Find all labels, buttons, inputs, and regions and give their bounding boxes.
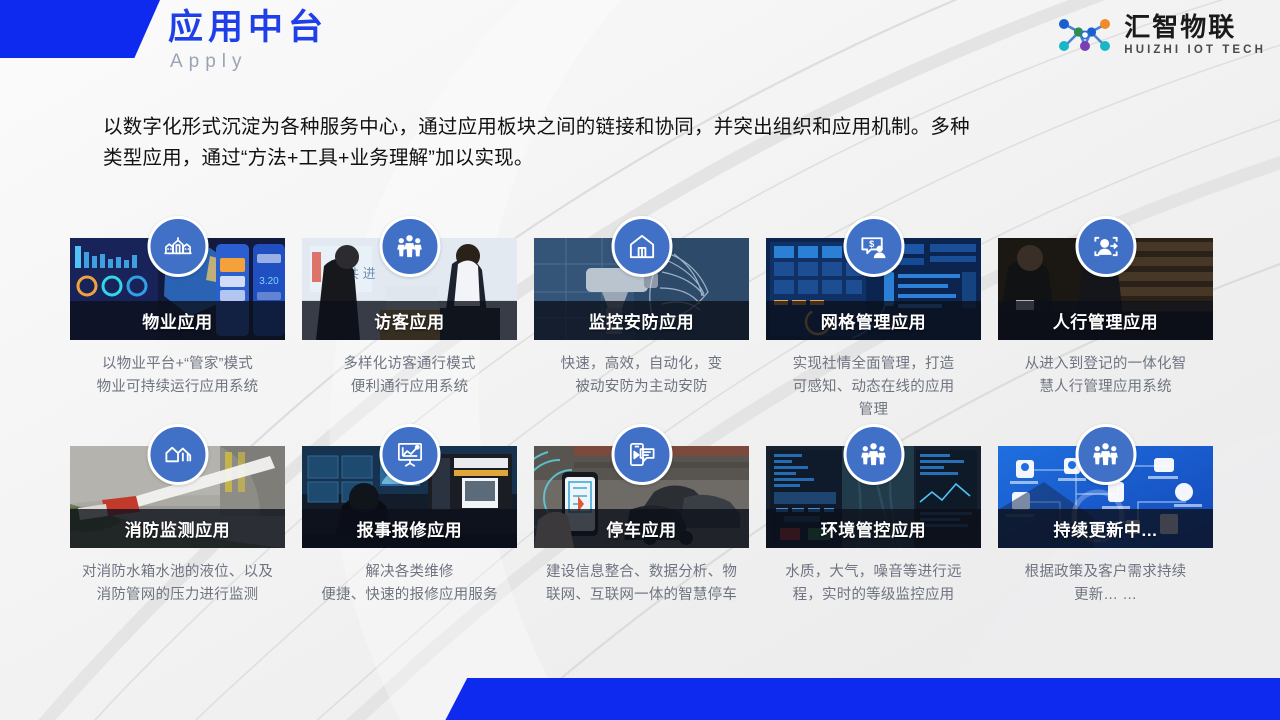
card-caption: 多样化访客通行模式便利通行应用系统 (302, 353, 517, 399)
footer-accent-bar (0, 678, 1280, 720)
card-caption-line: 程，实时的等级监控应用 (766, 584, 981, 607)
application-card-grid: 3.20物业应用以物业平台+“管家”模式物业可持续运行应用系统共 进访客应用多样… (70, 238, 1212, 607)
card-caption-line: 实现社情全面管理，打造 (766, 353, 981, 376)
application-card[interactable]: 消防监测应用对消防水箱水池的液位、以及消防管网的压力进行监测 (70, 446, 285, 607)
page-title: 应用中台 (168, 6, 328, 50)
title-block: 应用中台 Apply (168, 6, 328, 73)
card-title-bar: 环境管控应用 (766, 509, 981, 548)
card-caption-line: 更新… … (998, 584, 1213, 607)
card-caption-line: 联网、互联网一体的智慧停车 (534, 584, 749, 607)
card-caption-line: 以物业平台+“管家”模式 (70, 353, 285, 376)
face-scan-icon (1090, 231, 1121, 262)
card-caption: 以物业平台+“管家”模式物业可持续运行应用系统 (70, 353, 285, 399)
card-row-1: 3.20物业应用以物业平台+“管家”模式物业可持续运行应用系统共 进访客应用多样… (70, 238, 1212, 422)
phone-message-icon (626, 439, 657, 470)
card-caption-line: 根据政策及客户需求持续 (998, 561, 1213, 584)
application-card[interactable]: 持续更新中...根据政策及客户需求持续更新… … (998, 446, 1213, 607)
card-image-wrapper[interactable]: 消防监测应用 (70, 446, 285, 548)
card-image-wrapper[interactable]: 监控安防应用 (534, 238, 749, 340)
header-corner-accent (0, 0, 160, 58)
card-caption-line: 多样化访客通行模式 (302, 353, 517, 376)
card-title: 持续更新中... (1054, 516, 1158, 541)
logo-name-cn: 汇智物联 (1124, 13, 1266, 42)
card-badge-icon (1075, 424, 1136, 485)
intro-paragraph: 以数字化形式沉淀为各种服务中心，通过应用板块之间的链接和协同，并突出组织和应用机… (103, 112, 1175, 174)
card-title: 消防监测应用 (125, 516, 231, 541)
card-title-bar: 持续更新中... (998, 509, 1213, 548)
application-card[interactable]: 环境管控应用水质，大气，噪音等进行远程，实时的等级监控应用 (766, 446, 981, 607)
page-subtitle: Apply (170, 51, 328, 73)
card-title-bar: 监控安防应用 (534, 301, 749, 340)
application-card[interactable]: 停车应用建设信息整合、数据分析、物联网、互联网一体的智慧停车 (534, 446, 749, 607)
card-image-wrapper[interactable]: 共 进访客应用 (302, 238, 517, 340)
card-caption-line: 便利通行应用系统 (302, 376, 517, 399)
intro-line-2: 类型应用，通过“方法+工具+业务理解”加以实现。 (103, 143, 1175, 174)
people-group-icon (858, 439, 889, 470)
card-person-icon: $ (858, 231, 889, 262)
card-caption-line: 物业可持续运行应用系统 (70, 376, 285, 399)
card-title: 停车应用 (606, 516, 676, 541)
application-card[interactable]: 监控安防应用快速，高效，自动化，变被动安防为主动安防 (534, 238, 749, 422)
card-title: 人行管理应用 (1053, 308, 1159, 333)
card-caption-line: 管理 (766, 399, 981, 422)
application-card[interactable]: $网格管理应用实现社情全面管理，打造可感知、动态在线的应用管理 (766, 238, 981, 422)
card-caption: 对消防水箱水池的液位、以及消防管网的压力进行监测 (70, 561, 285, 607)
svg-text:$: $ (869, 239, 874, 249)
card-title: 环境管控应用 (821, 516, 927, 541)
card-badge-icon (379, 216, 440, 277)
card-title: 物业应用 (142, 308, 212, 333)
chart-board-icon (394, 439, 425, 470)
application-card[interactable]: 人行管理应用从进入到登记的一体化智慧人行管理应用系统 (998, 238, 1213, 422)
card-title-bar: 访客应用 (302, 301, 517, 340)
page-header: 应用中台 Apply 汇智物联 HUIZHI IOT TECH (0, 0, 1280, 90)
card-title: 网格管理应用 (821, 308, 927, 333)
card-badge-icon (611, 424, 672, 485)
card-caption-line: 建设信息整合、数据分析、物 (534, 561, 749, 584)
card-caption: 从进入到登记的一体化智慧人行管理应用系统 (998, 353, 1213, 399)
card-title-bar: 消防监测应用 (70, 509, 285, 548)
card-caption: 快速，高效，自动化，变被动安防为主动安防 (534, 353, 749, 399)
card-caption: 建设信息整合、数据分析、物联网、互联网一体的智慧停车 (534, 561, 749, 607)
home-security-icon (626, 231, 657, 262)
card-image-wrapper[interactable]: 报事报修应用 (302, 446, 517, 548)
card-title-bar: 物业应用 (70, 301, 285, 340)
people-group-icon (394, 231, 425, 262)
card-caption-line: 便捷、快速的报修应用服务 (302, 584, 517, 607)
logo-name-en: HUIZHI IOT TECH (1124, 43, 1266, 58)
card-badge-icon (843, 424, 904, 485)
card-caption-line: 慧人行管理应用系统 (998, 376, 1213, 399)
card-badge-icon (611, 216, 672, 277)
card-caption-line: 对消防水箱水池的液位、以及 (70, 561, 285, 584)
card-caption-line: 消防管网的压力进行监测 (70, 584, 285, 607)
svg-text:3.20: 3.20 (259, 276, 279, 287)
card-image-wrapper[interactable]: $网格管理应用 (766, 238, 981, 340)
card-caption: 根据政策及客户需求持续更新… … (998, 561, 1213, 607)
company-logo: 汇智物联 HUIZHI IOT TECH (1054, 12, 1266, 58)
card-caption-line: 可感知、动态在线的应用 (766, 376, 981, 399)
card-title: 访客应用 (374, 308, 444, 333)
card-title: 监控安防应用 (589, 308, 695, 333)
card-badge-icon (147, 216, 208, 277)
application-card[interactable]: 共 进访客应用多样化访客通行模式便利通行应用系统 (302, 238, 517, 422)
card-caption-line: 水质，大气，噪音等进行远 (766, 561, 981, 584)
card-badge-icon (1075, 216, 1136, 277)
molecule-network-icon (1054, 12, 1116, 58)
card-caption-line: 快速，高效，自动化，变 (534, 353, 749, 376)
card-badge-icon (147, 424, 208, 485)
application-card[interactable]: 报事报修应用解决各类维修便捷、快速的报修应用服务 (302, 446, 517, 607)
house-village-icon (162, 231, 193, 262)
card-badge-icon (379, 424, 440, 485)
card-image-wrapper[interactable]: 人行管理应用 (998, 238, 1213, 340)
card-caption: 水质，大气，噪音等进行远程，实时的等级监控应用 (766, 561, 981, 607)
card-title-bar: 停车应用 (534, 509, 749, 548)
card-caption-line: 从进入到登记的一体化智 (998, 353, 1213, 376)
card-title-bar: 人行管理应用 (998, 301, 1213, 340)
card-caption-line: 解决各类维修 (302, 561, 517, 584)
application-card[interactable]: 3.20物业应用以物业平台+“管家”模式物业可持续运行应用系统 (70, 238, 285, 422)
card-badge-icon: $ (843, 216, 904, 277)
card-title: 报事报修应用 (357, 516, 463, 541)
card-title-bar: 报事报修应用 (302, 509, 517, 548)
card-image-wrapper[interactable]: 环境管控应用 (766, 446, 981, 548)
card-title-bar: 网格管理应用 (766, 301, 981, 340)
card-caption: 实现社情全面管理，打造可感知、动态在线的应用管理 (766, 353, 981, 422)
card-image-wrapper[interactable]: 3.20物业应用 (70, 238, 285, 340)
people-group-icon (1090, 439, 1121, 470)
card-caption-line: 被动安防为主动安防 (534, 376, 749, 399)
card-caption: 解决各类维修便捷、快速的报修应用服务 (302, 561, 517, 607)
card-image-wrapper[interactable]: 停车应用 (534, 446, 749, 548)
intro-line-1: 以数字化形式沉淀为各种服务中心，通过应用板块之间的链接和协同，并突出组织和应用机… (103, 112, 1175, 143)
card-row-2: 消防监测应用对消防水箱水池的液位、以及消防管网的压力进行监测报事报修应用解决各类… (70, 446, 1212, 607)
fire-hose-house-icon (162, 439, 193, 470)
card-image-wrapper[interactable]: 持续更新中... (998, 446, 1213, 548)
